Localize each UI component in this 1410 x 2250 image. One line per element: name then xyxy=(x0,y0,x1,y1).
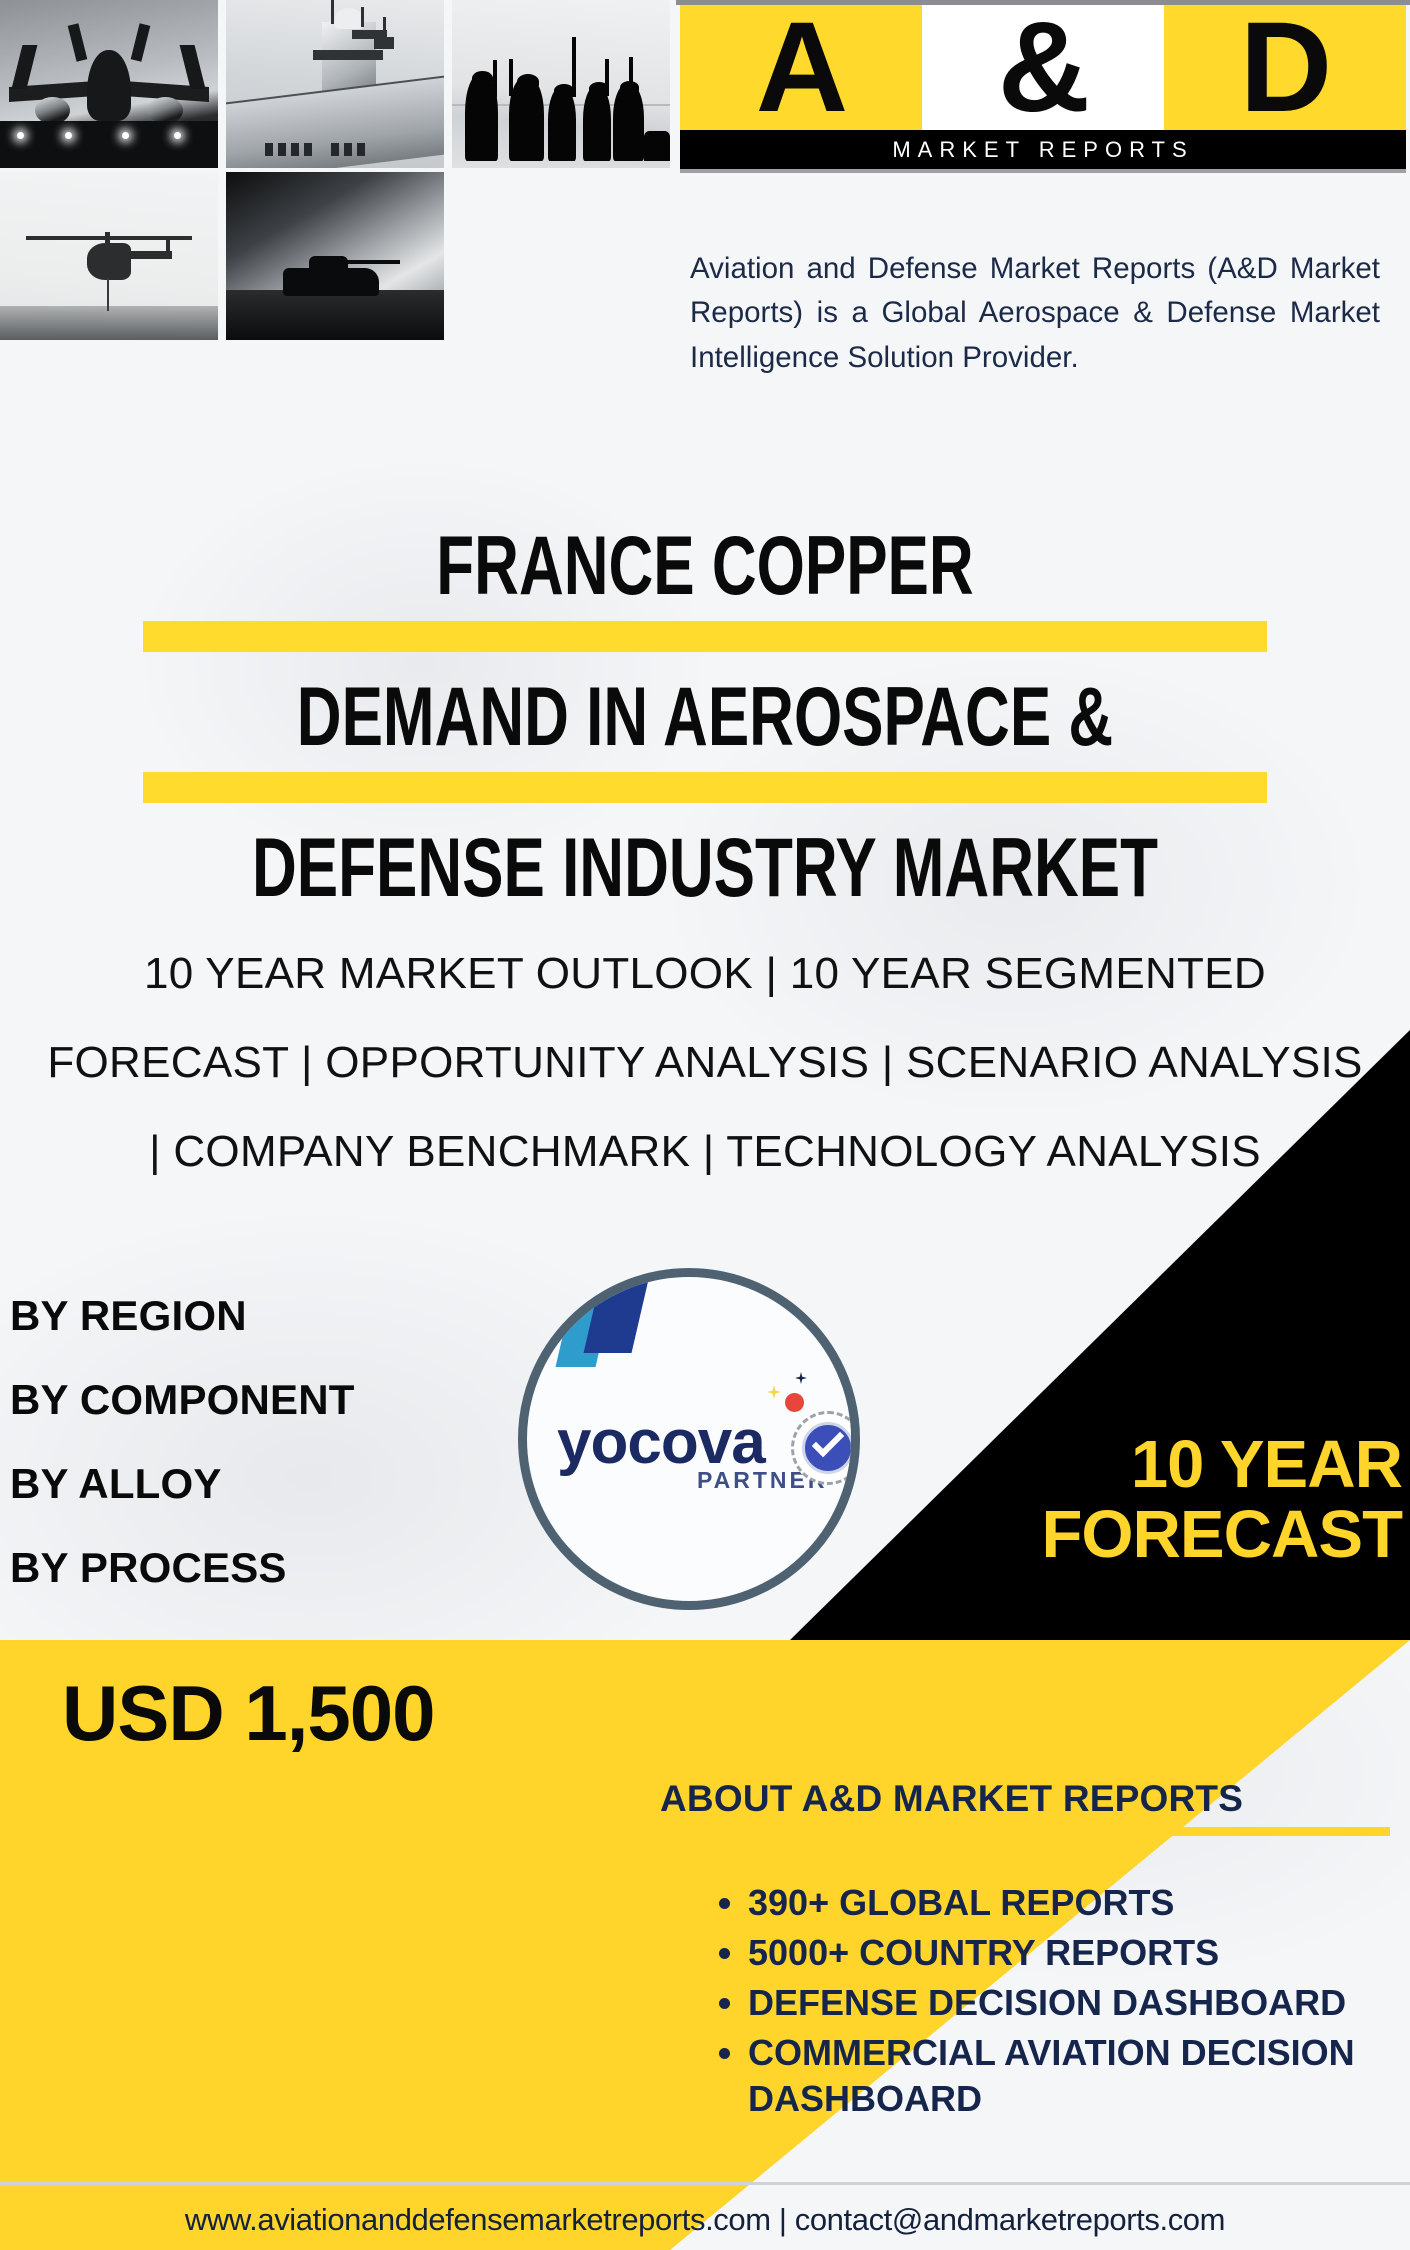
report-scope-subtitle: 10 YEAR MARKET OUTLOOK | 10 YEAR SEGMENT… xyxy=(45,930,1365,1197)
segmentation-list: BY REGION BY COMPONENT BY ALLOY BY PROCE… xyxy=(10,1295,570,1631)
forecast-callout: 10 YEAR FORECAST xyxy=(880,1430,1410,1571)
title-divider-bar-1 xyxy=(143,621,1267,652)
about-bullet-commercial-dashboard: COMMERCIAL AVIATION DECISION DASHBOARD xyxy=(748,2030,1400,2122)
footer-contact-bar: www.aviationanddefensemarketreports.com … xyxy=(0,2190,1410,2250)
photo-strip xyxy=(0,0,676,345)
yocova-partner-badge: yocova PARTNER xyxy=(518,1268,860,1610)
segmentation-item-alloy: BY ALLOY xyxy=(10,1463,570,1505)
about-bullet-list: 390+ GLOBAL REPORTS 5000+ COUNTRY REPORT… xyxy=(700,1880,1400,2126)
segmentation-item-process: BY PROCESS xyxy=(10,1547,570,1589)
logo-letter-tiles: A & D xyxy=(680,5,1406,130)
yocova-accent-shape-dark xyxy=(584,1271,651,1353)
sparkle-navy-icon xyxy=(795,1372,807,1384)
logo-subtitle-text: MARKET REPORTS xyxy=(892,137,1193,163)
logo-letter-a: A xyxy=(756,4,846,132)
sparkle-yellow-icon xyxy=(767,1385,781,1399)
photo-helicopter-over-field xyxy=(0,172,218,340)
logo-tile-a: A xyxy=(680,5,922,130)
segmentation-item-region: BY REGION xyxy=(10,1295,570,1337)
logo-letter-ampersand: & xyxy=(998,4,1088,132)
title-line-3: DEFENSE INDUSTRY MARKET xyxy=(0,827,1410,911)
footer-divider xyxy=(0,2182,1410,2185)
segmentation-item-component: BY COMPONENT xyxy=(10,1379,570,1421)
verified-check-seal-icon xyxy=(791,1411,860,1485)
forecast-line-1: 10 YEAR xyxy=(880,1430,1402,1500)
about-bullet-defense-dashboard: DEFENSE DECISION DASHBOARD xyxy=(748,1980,1400,2026)
company-intro-paragraph: Aviation and Defense Market Reports (A&D… xyxy=(690,247,1380,380)
title-divider-bar-2 xyxy=(143,772,1267,803)
report-cover-poster: A & D MARKET REPORTS Aviation and Defens… xyxy=(0,0,1410,2250)
logo-tile-ampersand: & xyxy=(922,5,1164,130)
photo-fighter-jet-on-carrier-deck xyxy=(0,0,218,168)
logo-bottom-rule xyxy=(680,169,1406,173)
ad-market-reports-logo: A & D MARKET REPORTS xyxy=(676,0,1410,174)
photo-naval-warship xyxy=(226,0,444,168)
about-bullet-country-reports: 5000+ COUNTRY REPORTS xyxy=(748,1930,1400,1976)
logo-subtitle-bar: MARKET REPORTS xyxy=(680,130,1406,169)
title-line-2: DEMAND IN AEROSPACE & xyxy=(0,676,1410,760)
about-section-underline xyxy=(660,1827,1390,1836)
report-title-block: FRANCE COPPER DEMAND IN AEROSPACE & DEFE… xyxy=(0,525,1410,889)
photo-soldiers-silhouette xyxy=(452,0,670,168)
logo-tile-d: D xyxy=(1164,5,1406,130)
title-line-1: FRANCE COPPER xyxy=(0,525,1410,609)
about-bullet-global-reports: 390+ GLOBAL REPORTS xyxy=(748,1880,1400,1926)
logo-letter-d: D xyxy=(1240,4,1330,132)
about-section-heading: ABOUT A&D MARKET REPORTS xyxy=(660,1778,1400,1820)
price-amount: USD 1,500 xyxy=(62,1668,435,1759)
photo-armoured-vehicle-at-dusk xyxy=(226,172,444,340)
forecast-line-2: FORECAST xyxy=(880,1500,1402,1570)
